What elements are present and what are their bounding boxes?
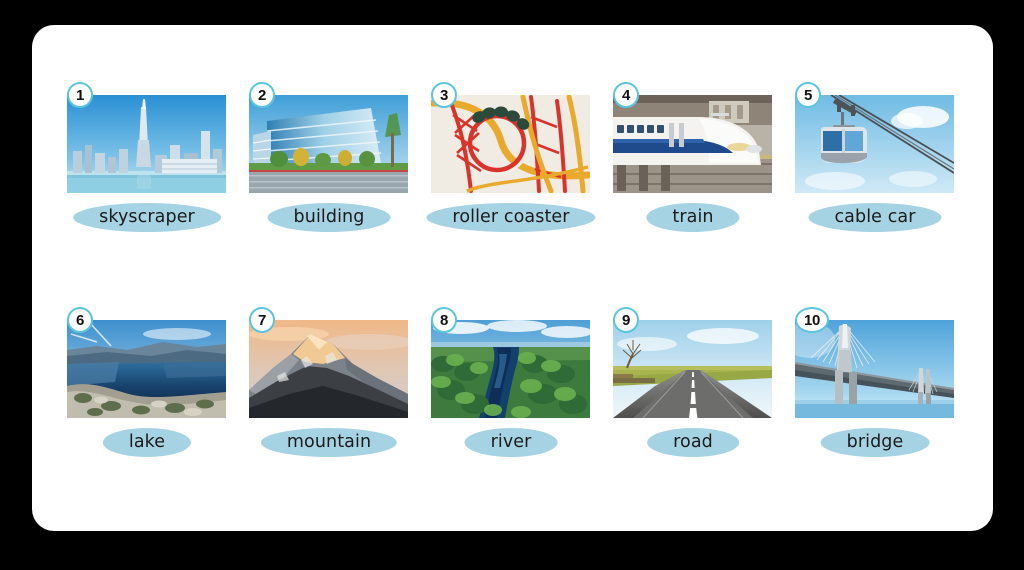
vocab-item-cable-car[interactable]: 5 cable car bbox=[795, 82, 955, 282]
vocab-item-roller-coaster[interactable]: 3 roller coaster bbox=[431, 82, 591, 282]
vocab-item-train[interactable]: 4 train bbox=[613, 82, 773, 282]
lake-photo bbox=[67, 320, 226, 418]
worksheet-card: 1 skyscraper bbox=[32, 25, 993, 531]
vocab-label: cable car bbox=[834, 209, 915, 227]
label-pill-train[interactable]: train bbox=[646, 203, 739, 232]
number-badge: 5 bbox=[795, 82, 821, 108]
vocab-label: lake bbox=[129, 434, 165, 452]
mountain-photo bbox=[249, 320, 408, 418]
label-pill-cable-car[interactable]: cable car bbox=[808, 203, 941, 232]
road-photo bbox=[613, 320, 772, 418]
label-pill-building[interactable]: building bbox=[268, 203, 391, 232]
vocab-label: skyscraper bbox=[99, 209, 195, 227]
bridge-photo bbox=[795, 320, 954, 418]
number-badge: 9 bbox=[613, 307, 639, 333]
vocab-item-bridge[interactable]: 10 bridge bbox=[795, 307, 955, 507]
mountain-photo-art bbox=[249, 320, 408, 418]
label-pill-road[interactable]: road bbox=[647, 428, 739, 457]
number-badge: 4 bbox=[613, 82, 639, 108]
vocab-row-2: 6 lake bbox=[32, 307, 993, 507]
vocab-label: road bbox=[673, 434, 713, 452]
building-photo bbox=[249, 95, 408, 193]
label-pill-bridge[interactable]: bridge bbox=[821, 428, 930, 457]
river-photo-art bbox=[431, 320, 590, 418]
number-badge: 7 bbox=[249, 307, 275, 333]
label-pill-mountain[interactable]: mountain bbox=[261, 428, 397, 457]
road-photo-art bbox=[613, 320, 772, 418]
number-badge: 3 bbox=[431, 82, 457, 108]
number-badge: 6 bbox=[67, 307, 93, 333]
train-photo bbox=[613, 95, 772, 193]
vocab-item-mountain[interactable]: 7 mountain bbox=[249, 307, 409, 507]
label-pill-skyscraper[interactable]: skyscraper bbox=[73, 203, 221, 232]
label-pill-river[interactable]: river bbox=[465, 428, 558, 457]
number-badge: 2 bbox=[249, 82, 275, 108]
cable-car-photo bbox=[795, 95, 954, 193]
vocab-label: mountain bbox=[287, 434, 371, 452]
vocab-item-skyscraper[interactable]: 1 skyscraper bbox=[67, 82, 227, 282]
train-photo-art bbox=[613, 95, 772, 193]
roller-coaster-photo-art bbox=[431, 95, 590, 193]
vocab-label: river bbox=[491, 434, 532, 452]
skyscraper-photo-art bbox=[67, 95, 226, 193]
cable-car-photo-art bbox=[795, 95, 954, 193]
vocab-label: roller coaster bbox=[452, 209, 569, 227]
lake-photo-art bbox=[67, 320, 226, 418]
vocab-row-1: 1 skyscraper bbox=[32, 82, 993, 282]
bridge-photo-art bbox=[795, 320, 954, 418]
river-photo bbox=[431, 320, 590, 418]
number-badge: 8 bbox=[431, 307, 457, 333]
number-badge: 1 bbox=[67, 82, 93, 108]
label-pill-lake[interactable]: lake bbox=[103, 428, 191, 457]
vocab-item-road[interactable]: 9 road bbox=[613, 307, 773, 507]
vocab-item-building[interactable]: 2 building bbox=[249, 82, 409, 282]
vocab-label: building bbox=[294, 209, 365, 227]
vocab-label: train bbox=[672, 209, 713, 227]
label-pill-roller-coaster[interactable]: roller coaster bbox=[426, 203, 595, 232]
vocab-label: bridge bbox=[847, 434, 904, 452]
roller-coaster-photo bbox=[431, 95, 590, 193]
building-photo-art bbox=[249, 95, 408, 193]
skyscraper-photo bbox=[67, 95, 226, 193]
vocab-item-lake[interactable]: 6 lake bbox=[67, 307, 227, 507]
number-badge: 10 bbox=[795, 307, 829, 333]
vocab-item-river[interactable]: 8 river bbox=[431, 307, 591, 507]
